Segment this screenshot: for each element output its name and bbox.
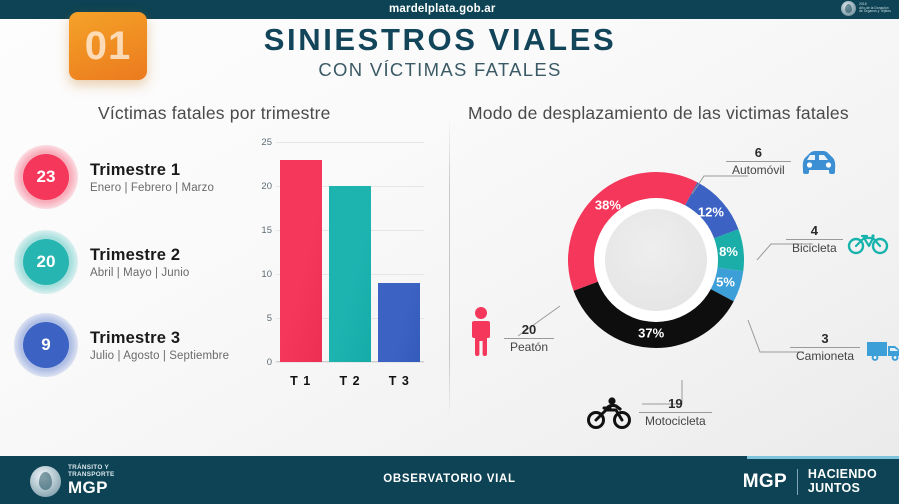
bar-t2 xyxy=(329,186,371,362)
y-axis-tick: 15 xyxy=(250,225,272,236)
callout-bicicleta-box: 4 Bicicleta xyxy=(786,224,843,255)
quarter-text: Trimestre 3 Julio | Agosto | Septiembre xyxy=(90,329,229,362)
motocicleta-label: Motocicleta xyxy=(639,412,712,428)
footer-slogan-line-1: HACIENDO xyxy=(808,468,877,482)
quarter-value: 23 xyxy=(23,154,69,200)
y-axis-tick: 20 xyxy=(250,181,272,192)
section-number-badge: 01 xyxy=(69,12,147,80)
peaton-label: Peatón xyxy=(504,338,554,354)
bar-t3 xyxy=(378,283,420,362)
footer-accent-bar xyxy=(747,456,899,459)
quarter-months: Enero | Febrero | Marzo xyxy=(90,182,214,194)
bar-label: T 2 xyxy=(324,374,376,388)
y-axis-tick: 0 xyxy=(250,357,272,368)
logo-line-3: de Órganos y Tejidos xyxy=(859,10,891,13)
y-axis-tick: 5 xyxy=(250,313,272,324)
callout-camioneta: 3 Camioneta xyxy=(790,332,899,363)
donut-percent-camioneta: 5% xyxy=(716,275,735,290)
quarter-name: Trimestre 1 xyxy=(90,161,214,180)
bar-label: T 1 xyxy=(275,374,327,388)
footer-slogan: HACIENDO JUNTOS xyxy=(808,468,877,496)
quarter-text: Trimestre 2 Abril | Mayo | Junio xyxy=(90,246,189,279)
automovil-label: Automóvil xyxy=(726,161,791,177)
callout-peaton: 20 Peatón xyxy=(466,306,554,354)
quarter-circle: 20 xyxy=(14,230,78,294)
section-number: 01 xyxy=(85,24,132,69)
quarter-row: 9 Trimestre 3 Julio | Agosto | Septiembr… xyxy=(14,313,229,377)
callout-automovil: 6 Automóvil xyxy=(726,146,839,177)
donut-percent-automvil: 12% xyxy=(698,204,724,219)
callout-motocicleta: 19 Motocicleta xyxy=(585,396,712,428)
bar-chart-plot: 0510152025T 1T 2T 3 xyxy=(276,142,424,362)
title-main: SINIESTROS VIALES xyxy=(180,24,700,57)
bar-chart: 0510152025T 1T 2T 3 xyxy=(248,136,428,386)
panel-divider xyxy=(449,118,450,418)
gridline xyxy=(276,362,424,363)
right-section-title: Modo de desplazamiento de las victimas f… xyxy=(468,103,849,124)
callout-motocicleta-box: 19 Motocicleta xyxy=(639,397,712,428)
quarter-value: 9 xyxy=(23,322,69,368)
footer-separator xyxy=(797,469,798,495)
motorcycle-icon xyxy=(585,396,635,430)
pedestrian-icon xyxy=(466,306,496,358)
quarter-text: Trimestre 1 Enero | Febrero | Marzo xyxy=(90,161,214,194)
callout-peaton-box: 20 Peatón xyxy=(504,323,554,354)
peaton-count: 20 xyxy=(522,323,536,338)
automovil-count: 6 xyxy=(755,146,762,161)
bicicleta-count: 4 xyxy=(811,224,818,239)
government-logo-text: 2018 Año de la Donación de Órganos y Tej… xyxy=(859,3,891,13)
truck-icon xyxy=(865,336,899,364)
callout-bicicleta: 4 Bicicleta xyxy=(786,224,889,255)
bar-t1 xyxy=(280,160,322,362)
motocicleta-count: 19 xyxy=(668,397,682,412)
page-title: SINIESTROS VIALES CON VÍCTIMAS FATALES xyxy=(180,24,700,81)
bar-label: T 3 xyxy=(373,374,425,388)
quarter-value: 20 xyxy=(23,239,69,285)
y-axis-tick: 10 xyxy=(250,269,272,280)
quarter-name: Trimestre 3 xyxy=(90,329,229,348)
quarter-row: 23 Trimestre 1 Enero | Febrero | Marzo xyxy=(14,145,214,209)
crest-icon xyxy=(841,1,856,16)
footer: TRÁNSITO Y TRANSPORTE MGP OBSERVATORIO V… xyxy=(0,456,899,504)
bicycle-icon xyxy=(847,229,889,255)
quarter-months: Abril | Mayo | Junio xyxy=(90,267,189,279)
quarter-name: Trimestre 2 xyxy=(90,246,189,265)
bicicleta-label: Bicicleta xyxy=(786,239,843,255)
car-icon xyxy=(797,149,839,179)
gridline xyxy=(276,142,424,143)
footer-slogan-line-2: JUNTOS xyxy=(808,482,877,496)
donut-percent-motocicleta: 37% xyxy=(638,325,664,340)
callout-camioneta-box: 3 Camioneta xyxy=(790,332,860,363)
footer-right-mgp: MGP xyxy=(743,471,787,493)
y-axis-tick: 25 xyxy=(250,137,272,148)
camioneta-label: Camioneta xyxy=(790,347,860,363)
title-subtitle: CON VÍCTIMAS FATALES xyxy=(180,59,700,81)
quarter-circle: 23 xyxy=(14,145,78,209)
government-logo: 2018 Año de la Donación de Órganos y Tej… xyxy=(841,1,891,16)
quarter-months: Julio | Agosto | Septiembre xyxy=(90,350,229,362)
donut-center xyxy=(605,209,707,311)
donut-percent-bicicleta: 8% xyxy=(719,244,738,259)
site-url: mardelplata.gob.ar xyxy=(389,3,496,15)
footer-brand-right: MGP HACIENDO JUNTOS xyxy=(743,468,877,496)
quarter-row: 20 Trimestre 2 Abril | Mayo | Junio xyxy=(14,230,189,294)
infographic-slide: mardelplata.gob.ar 2018 Año de la Donaci… xyxy=(0,0,899,504)
callout-automovil-box: 6 Automóvil xyxy=(726,146,791,177)
quarter-circle: 9 xyxy=(14,313,78,377)
left-section-title: Víctimas fatales por trimestre xyxy=(98,103,331,124)
camioneta-count: 3 xyxy=(821,332,828,347)
